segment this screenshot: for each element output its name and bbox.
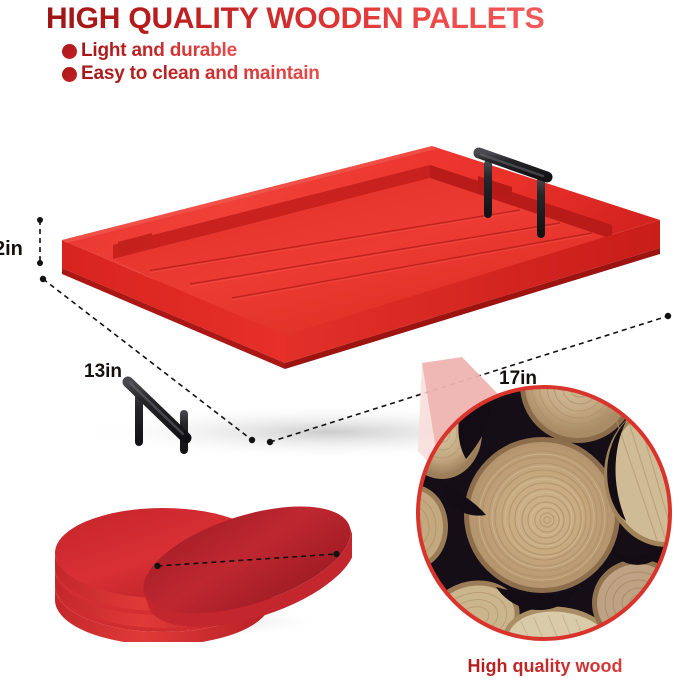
width-dim-dot-start bbox=[267, 439, 273, 445]
page-title: HIGH QUALITY WOODEN PALLETS bbox=[46, 2, 545, 36]
feature-bullet-2-label: Easy to clean and maintain bbox=[81, 63, 320, 85]
right-handle-post-front bbox=[537, 176, 545, 238]
coasters-svg bbox=[52, 482, 352, 642]
feature-bullet-2: Easy to clean and maintain bbox=[62, 63, 320, 85]
feature-bullet-1: Light and durable bbox=[62, 40, 237, 62]
depth-dim-dot-end bbox=[249, 437, 255, 443]
infographic-canvas: HIGH QUALITY WOODEN PALLETS Light and du… bbox=[0, 0, 679, 685]
filled-circle-bullet-icon bbox=[62, 67, 77, 82]
wood-callout-caption: High quality wood bbox=[440, 656, 650, 677]
filled-circle-bullet-icon bbox=[62, 44, 77, 59]
log-center bbox=[464, 437, 620, 593]
wood-callout-svg bbox=[400, 355, 679, 685]
height-dim-dot-bottom bbox=[37, 260, 43, 266]
width-dim-dot-end bbox=[665, 313, 671, 319]
height-dimension-label: 2in bbox=[0, 238, 23, 261]
wood-detail-callout bbox=[400, 355, 679, 685]
depth-dim-dot-start bbox=[40, 276, 46, 282]
height-dim-dot-top bbox=[37, 217, 43, 223]
feature-bullet-1-label: Light and durable bbox=[81, 40, 237, 62]
depth-dimension-label: 13in bbox=[84, 361, 122, 383]
coaster-set-illustration bbox=[52, 482, 352, 642]
right-handle-post-back bbox=[484, 160, 492, 218]
